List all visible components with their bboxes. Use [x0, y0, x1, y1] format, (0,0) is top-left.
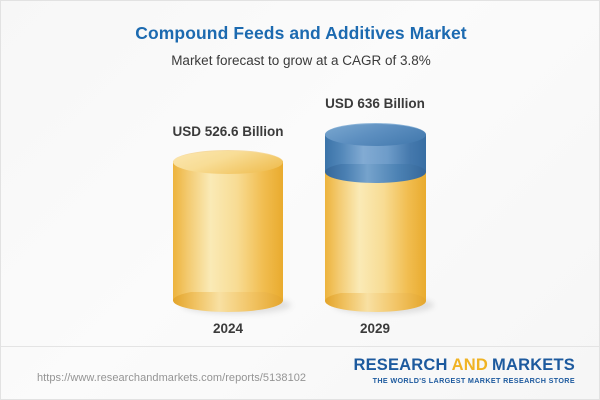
research-and-markets-logo[interactable]: RESEARCHANDMARKETS THE WORLD'S LARGEST M…	[353, 357, 575, 385]
bar-growth-seam-2029	[325, 153, 426, 164]
bar-2029[interactable]	[325, 123, 426, 312]
chart-card: Compound Feeds and Additives Market Mark…	[0, 0, 600, 400]
bar-value-label-2024: USD 526.6 Billion	[128, 124, 328, 139]
logo-wordmark: RESEARCHANDMARKETS	[353, 357, 575, 374]
bar-top-ellipse-2029	[325, 123, 426, 146]
logo-tagline: THE WORLD'S LARGEST MARKET RESEARCH STOR…	[353, 376, 575, 385]
bar-top-ellipse-2024	[173, 150, 283, 174]
bar-2024[interactable]	[173, 150, 283, 312]
bar-body-seam-2029	[325, 281, 426, 293]
bar-growth-bottom-ellipse-2029	[325, 161, 426, 183]
axis-label-2029: 2029	[275, 321, 475, 336]
bar-body-seam-2024	[173, 280, 283, 292]
bar-bottom-ellipse-2024	[173, 289, 283, 312]
bar-chart-plot: USD 526.6 Billion 2024 USD 636 Billion	[1, 1, 600, 346]
logo-word-research: RESEARCH	[353, 356, 447, 374]
footer-divider	[1, 346, 600, 347]
logo-word-markets: MARKETS	[492, 356, 575, 374]
bar-bottom-ellipse-2029	[325, 290, 426, 312]
report-url[interactable]: https://www.researchandmarkets.com/repor…	[37, 372, 306, 384]
bar-value-label-2029: USD 636 Billion	[275, 96, 475, 111]
logo-word-and: AND	[448, 356, 492, 374]
